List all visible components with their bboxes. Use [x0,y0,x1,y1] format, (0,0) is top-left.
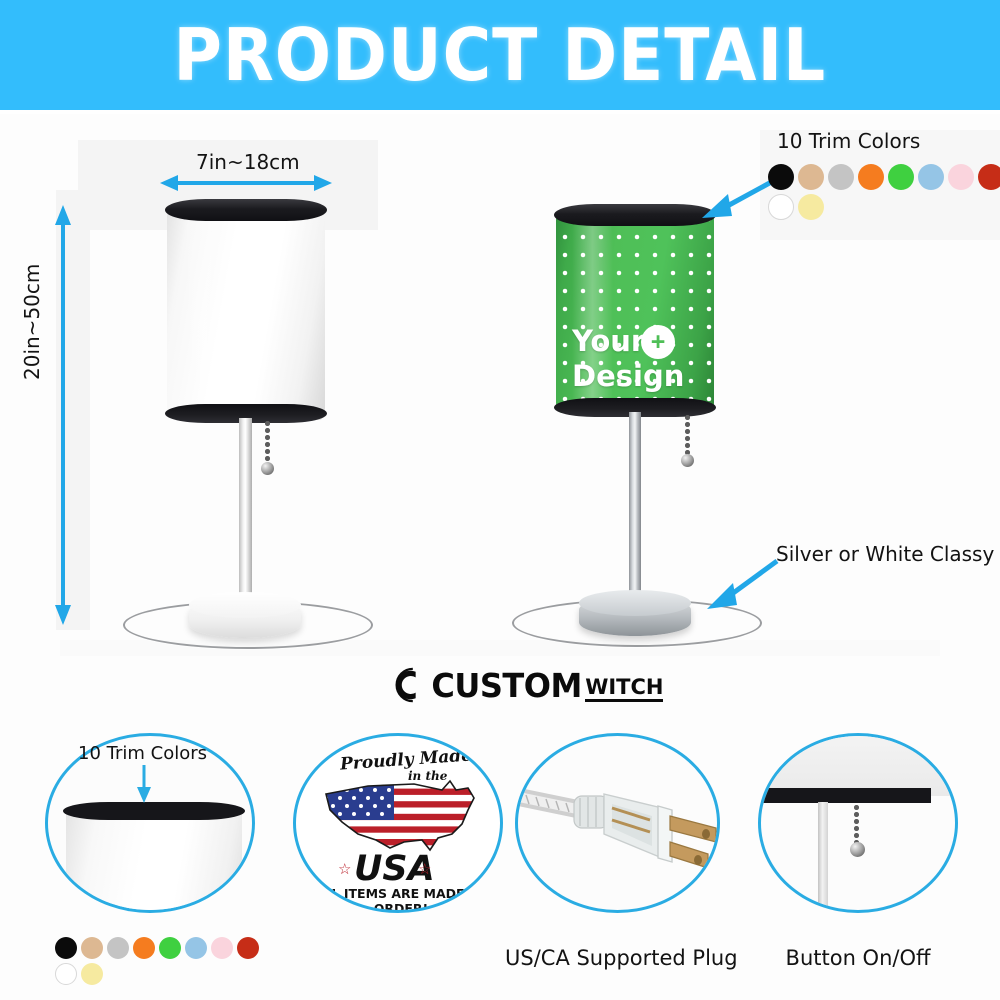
switch-trim-bar [763,788,931,803]
shade-design-line-1: Your [572,327,645,356]
trim-colors-swatch-row-top [768,164,1000,220]
trim-swatch-pink[interactable] [948,164,974,190]
design-lamp-pole [629,412,641,596]
design-lamp-top-trim [554,204,716,226]
plus-icon: + [651,328,666,357]
trim-swatch-red[interactable] [237,937,259,959]
trim-swatch-orange[interactable] [133,937,155,959]
custom-design-lamp: Your + Design [0,0,1000,700]
switch-pole [818,802,828,912]
trim-swatch-green[interactable] [888,164,914,190]
plug-circle [515,733,720,913]
switch-pull-chain [853,804,860,846]
trim-swatch-black[interactable] [768,164,794,190]
logo-sub-text: WITCH [585,677,663,702]
pull-switch-circle [758,733,958,913]
circle-shade-body [66,812,242,913]
usa-badge-star-left: ☆ [338,860,351,878]
usa-badge-tagline: ALL ITEMS ARE MADE TO ORDER! [306,886,496,913]
trim-swatch-gray[interactable] [828,164,854,190]
switch-caption: Button On/Off [752,948,964,969]
trim-swatch-light-blue[interactable] [185,937,207,959]
logo-c-icon [390,666,428,704]
trim-colors-swatch-row-bottom [55,937,273,985]
trim-swatch-red[interactable] [978,164,1000,190]
trim-swatch-tan[interactable] [81,937,103,959]
usa-badge-star-right: ☆ [418,860,431,878]
brand-logo: CUSTOM WITCH [390,666,663,704]
logo-main-text: CUSTOM [431,669,582,702]
trim-swatch-gray[interactable] [107,937,129,959]
trim-swatch-orange[interactable] [858,164,884,190]
trim-swatch-white[interactable] [55,963,77,985]
circle-shade-trim [63,802,245,820]
trim-colors-heading: 10 Trim Colors [777,131,920,151]
trim-swatch-white[interactable] [768,194,794,220]
trim-swatch-light-blue[interactable] [918,164,944,190]
usa-badge-line1: Proudly Made [339,745,472,774]
trim-swatch-yellow[interactable] [798,194,824,220]
design-lamp-base-top [579,590,691,616]
trim-swatch-green[interactable] [159,937,181,959]
trim-swatch-yellow[interactable] [81,963,103,985]
product-detail-infographic: PRODUCT DETAIL 7in~18cm 20in~50cm [0,0,1000,1000]
shade-design-line-2: Design [572,362,684,391]
circle-trim-colors-down-arrow [134,765,154,803]
switch-shade-body [761,736,958,796]
shade-design-plus-badge: + [641,325,675,359]
usa-map-flag-icon [318,776,486,858]
trim-swatch-pink[interactable] [211,937,233,959]
trim-swatch-black[interactable] [55,937,77,959]
switch-chain-ball [850,842,865,857]
base-finish-pointer-arrow [705,555,781,611]
made-in-usa-circle: Proudly Made in the [293,733,503,913]
us-plug-icon [515,762,720,892]
base-finish-label: Silver or White Classy [776,544,994,564]
circle-trim-colors-label: 10 Trim Colors [78,745,207,763]
design-lamp-chain-ball [681,454,694,467]
plug-caption: US/CA Supported Plug [505,948,733,969]
trim-swatch-tan[interactable] [798,164,824,190]
